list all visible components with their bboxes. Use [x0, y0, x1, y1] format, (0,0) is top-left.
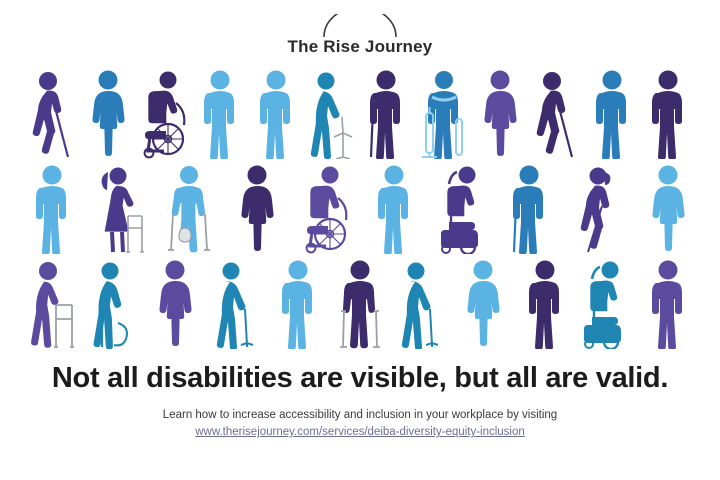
person-bent-with-walking-stick-icon: [306, 67, 358, 159]
person-with-forearm-crutches-icon: [334, 257, 386, 349]
person-in-power-wheelchair-icon: [580, 257, 632, 349]
website-link[interactable]: www.therisejourney.com/services/deiba-di…: [195, 426, 525, 438]
person-with-crutches-amputee-icon: [163, 162, 215, 254]
person-standing-icon: [272, 257, 324, 349]
person-standing-with-white-cane-icon: [505, 162, 557, 254]
brand-logo-text: The Rise Journey: [288, 38, 433, 56]
person-walking-with-white-cane-icon: [574, 162, 626, 254]
person-standing-icon: [368, 162, 420, 254]
person-standing-icon: [586, 67, 638, 159]
poster: The Rise Journey Not all disabilities ar…: [0, 0, 720, 480]
person-walking-with-cane-icon: [26, 67, 78, 159]
figure-row: [10, 64, 710, 159]
person-standing-icon: [149, 257, 201, 349]
person-with-walker-icon: [26, 257, 78, 349]
person-standing-icon: [26, 162, 78, 254]
figure-row: [10, 254, 710, 349]
figure-grid: [10, 64, 710, 349]
person-standing-icon: [457, 257, 509, 349]
person-walking-with-white-cane-icon: [530, 67, 582, 159]
person-standing-icon: [231, 162, 283, 254]
person-standing-with-cane-icon: [362, 67, 414, 159]
person-standing-icon: [474, 67, 526, 159]
person-in-manual-wheelchair-icon: [300, 162, 352, 254]
person-with-walker-icon: [94, 162, 146, 254]
person-standing-icon: [250, 67, 302, 159]
brand-logo: The Rise Journey: [265, 14, 455, 56]
person-standing-icon: [642, 257, 694, 349]
headline: Not all disabilities are visible, but al…: [52, 363, 668, 395]
person-bent-with-quad-cane-icon: [396, 257, 448, 349]
person-in-power-wheelchair-icon: [437, 162, 489, 254]
person-standing-icon: [519, 257, 571, 349]
subline: Learn how to increase accessibility and …: [163, 407, 557, 424]
person-in-manual-wheelchair-icon: [138, 67, 190, 159]
person-bent-with-quad-cane-icon: [211, 257, 263, 349]
person-with-oxygen-tank-icon: [418, 67, 470, 159]
person-standing-icon: [82, 67, 134, 159]
person-standing-icon: [642, 67, 694, 159]
person-standing-icon: [194, 67, 246, 159]
person-standing-icon: [642, 162, 694, 254]
person-bent-with-oxygen-icon: [88, 257, 140, 349]
arc-icon: [320, 14, 400, 38]
figure-row: [10, 159, 710, 254]
